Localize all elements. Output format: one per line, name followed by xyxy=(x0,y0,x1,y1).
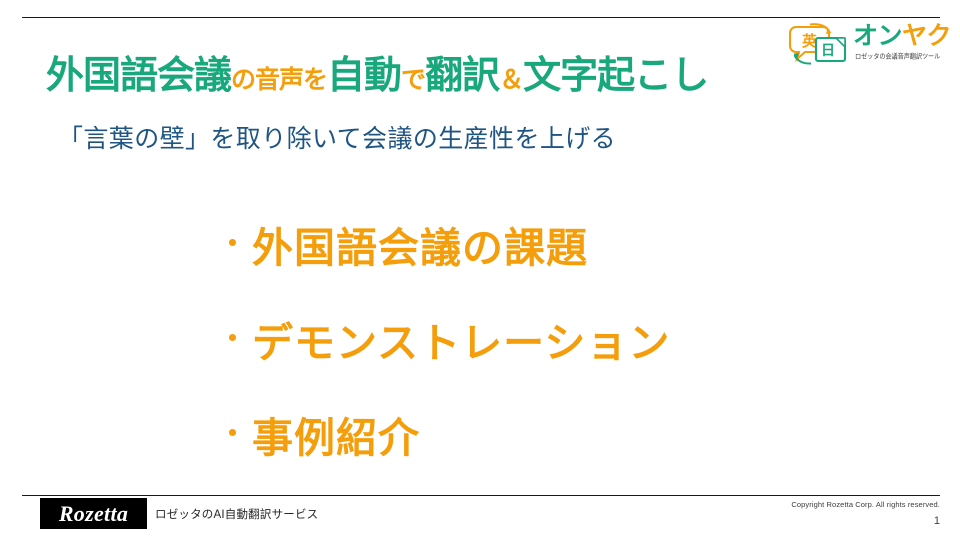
agenda-item-label: 事例紹介 xyxy=(252,404,420,464)
rozetta-logo-text: Rozetta xyxy=(40,498,147,529)
footer-divider xyxy=(22,495,940,496)
bullet-icon: ・ xyxy=(216,417,252,450)
agenda-list: ・ 外国語会議の課題 ・ デモンストレーション ・ 事例紹介 xyxy=(216,196,916,481)
list-item: ・ 外国語会議の課題 xyxy=(216,196,916,291)
logo-wordmark: オンヤク xyxy=(853,23,951,49)
page-number: 1 xyxy=(860,515,940,527)
headline-segment-3: 自動 xyxy=(327,55,401,97)
headline-segment-7: 文字起こし xyxy=(523,55,708,97)
agenda-item-label: デモンストレーション xyxy=(252,309,670,369)
logo-wordmark-orange: ヤク xyxy=(902,22,951,50)
slide-headline: 外国語会議の音声を自動で翻訳＆文字起こし xyxy=(46,52,708,108)
bullet-icon: ・ xyxy=(216,322,252,355)
svg-text:日: 日 xyxy=(821,42,835,58)
slide-subheadline: 「言葉の壁」を取り除いて会議の生産性を上げる xyxy=(58,119,616,155)
logo-tagline: ロゼッタの会議音声翻訳ツール xyxy=(855,51,940,61)
list-item: ・ デモンストレーション xyxy=(216,291,916,386)
english-japanese-translation-bubble-icon: 英 日 xyxy=(789,22,851,66)
agenda-item-label: 外国語会議の課題 xyxy=(252,214,588,274)
copyright-notice: Copyright Rozetta Corp. All rights reser… xyxy=(620,500,940,509)
onyaku-logo: 英 日 オンヤク ロゼッタの会議音声翻訳ツール xyxy=(789,22,957,68)
list-item: ・ 事例紹介 xyxy=(216,386,916,481)
header-divider xyxy=(22,17,940,18)
headline-segment-2: の音声を xyxy=(231,66,327,94)
bullet-icon: ・ xyxy=(216,227,252,260)
headline-segment-5: 翻訳 xyxy=(425,55,499,97)
headline-segment-1: 外国語会議 xyxy=(46,55,231,97)
rozetta-logo-badge: Rozetta xyxy=(40,498,147,529)
slide-canvas: 英 日 オンヤク ロゼッタの会議音声翻訳ツール 外国語会議の音声を自動で翻訳＆文… xyxy=(0,0,960,540)
headline-segment-4: で xyxy=(401,66,425,94)
logo-wordmark-green: オン xyxy=(853,22,902,50)
headline-segment-6: ＆ xyxy=(499,66,523,94)
footer-tagline: ロゼッタのAI自動翻訳サービス xyxy=(155,506,318,522)
